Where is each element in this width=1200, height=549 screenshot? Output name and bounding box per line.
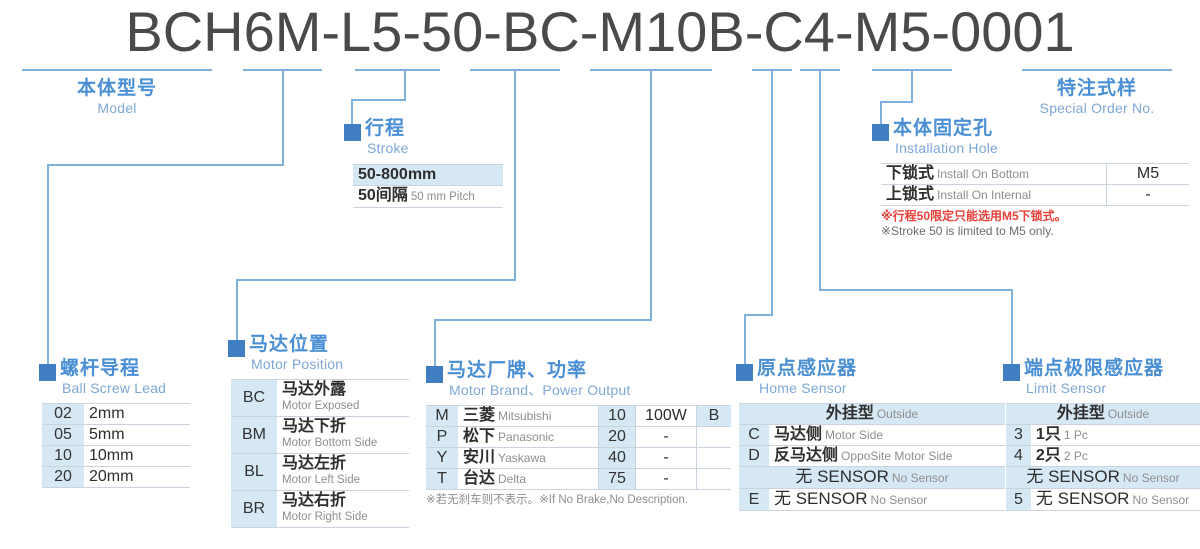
table-row[interactable]: 4 2只2 Pc: [1006, 446, 1200, 467]
table-row[interactable]: E 无 SENSORNo Sensor: [739, 489, 1005, 511]
table-row[interactable]: T 台达Delta 75 -: [426, 469, 731, 490]
install-bottom-value: M5: [1137, 165, 1159, 182]
lead-value: 20mm: [89, 468, 133, 485]
motor-position-en: Motor Left Side: [282, 472, 404, 488]
brake-cell: [697, 469, 732, 490]
home-sensor-cn: 反马达侧: [774, 447, 838, 464]
section-home-sensor-title-cn: 原点感应器: [757, 358, 857, 380]
limit-sensor-group2-en: No Sensor: [1120, 471, 1180, 485]
table-row: 外挂型Outside: [739, 404, 1005, 425]
table-row[interactable]: BM 马达下折 Motor Bottom Side: [231, 417, 409, 454]
motor-position-cn: 马达下折: [282, 419, 404, 435]
lead-value-cell: 10mm: [84, 446, 190, 467]
section-stroke: 行程 Stroke 50-800mm 50间隔50 mm Pitch: [344, 118, 503, 208]
installation-hole-note-en: ※Stroke 50 is limited to M5 only.: [881, 224, 1189, 239]
stroke-pitch-cn: 50间隔: [358, 187, 408, 204]
limit-sensor-group1-cn: 外挂型: [1057, 405, 1105, 422]
motor-position-cn: 马达右折: [282, 493, 404, 509]
product-code-diagram: BCH6M-L5-50-BC-M10B-C4-M5-0001: [0, 0, 1200, 549]
installation-hole-marker-square: [872, 124, 889, 141]
table-row[interactable]: P 松下Panasonic 20 -: [426, 427, 731, 448]
home-sensor-group-nosensor-header: 无 SENSORNo Sensor: [739, 467, 1005, 489]
brake-cell: [697, 427, 732, 448]
install-bottom-value-cell: M5: [1107, 164, 1190, 185]
home-sensor-desc-cell: 马达侧Motor Side: [769, 425, 1005, 446]
home-sensor-cn: 马达侧: [774, 426, 822, 443]
section-limit-sensor-title-en: Limit Sensor: [1024, 380, 1164, 397]
power-value: -: [663, 428, 668, 445]
section-ball-screw-lead-title-cn: 螺杆导程: [60, 358, 166, 380]
code-segment-specialorder: 0001: [950, 0, 1075, 64]
brand-name-cell: 松下Panasonic: [458, 427, 599, 448]
table-row[interactable]: M 三菱Mitsubishi 10 100W B: [426, 406, 731, 427]
limit-sensor-cn: 无 SENSOR: [1036, 489, 1130, 508]
table-row[interactable]: 20 20mm: [42, 467, 190, 488]
section-limit-sensor: 端点极限感应器 Limit Sensor 外挂型Outside 3 1只1 Pc…: [1003, 358, 1200, 511]
section-home-sensor-title-en: Home Sensor: [757, 380, 857, 397]
code-dash-4: -: [580, 0, 599, 64]
section-motor-brand-title-en: Motor Brand、Power Output: [447, 382, 630, 399]
section-model: 本体型号 Model: [22, 78, 212, 117]
limit-sensor-group-outside-header: 外挂型Outside: [1006, 404, 1200, 425]
install-bottom-label-cell: 下锁式Install On Bottom: [881, 164, 1107, 185]
motor-position-key-cell: BR: [231, 491, 277, 528]
limit-sensor-marker-square: [1003, 364, 1020, 381]
motor-position-key-cell: BM: [231, 417, 277, 454]
motor-position-marker-square: [228, 340, 245, 357]
brand-cn: 松下: [463, 428, 495, 445]
installation-hole-note-cn: ※行程50限定只能选用M5下锁式。: [881, 209, 1189, 224]
table-row[interactable]: BL 马达左折 Motor Left Side: [231, 454, 409, 491]
home-sensor-en: Motor Side: [822, 428, 883, 442]
limit-sensor-en: No Sensor: [1129, 493, 1189, 507]
power-value: 100W: [645, 407, 687, 424]
code-dash-2: -: [402, 0, 421, 64]
brand-name-cell: 台达Delta: [458, 469, 599, 490]
motor-position-en: Motor Right Side: [282, 509, 404, 525]
section-limit-sensor-title-cn: 端点极限感应器: [1024, 358, 1164, 380]
limit-sensor-table: 外挂型Outside 3 1只1 Pc 4 2只2 Pc 无 SENSORNo …: [1006, 403, 1200, 511]
home-sensor-en: OppoSite Motor Side: [838, 449, 952, 463]
brand-en: Yaskawa: [495, 451, 546, 465]
table-row[interactable]: D 反马达侧OppoSite Motor Side: [739, 446, 1005, 467]
motor-position-desc-cell: 马达左折 Motor Left Side: [277, 454, 409, 491]
home-sensor-desc-cell: 无 SENSORNo Sensor: [769, 489, 1005, 511]
section-stroke-title-en: Stroke: [365, 140, 409, 157]
brand-key-cell: Y: [426, 448, 458, 469]
table-row: 无 SENSORNo Sensor: [1006, 467, 1200, 489]
install-internal-en: Install On Internal: [934, 188, 1031, 202]
home-sensor-en: No Sensor: [868, 493, 928, 507]
lead-key-cell: 20: [42, 467, 84, 488]
code-segment-hole: M5: [854, 0, 932, 64]
power-value-cell: -: [636, 427, 697, 448]
lead-value: 10mm: [89, 447, 133, 464]
brand-cn: 台达: [463, 470, 495, 487]
motor-position-en: Motor Bottom Side: [282, 435, 404, 451]
home-sensor-group2-en: No Sensor: [889, 471, 949, 485]
power-value: -: [663, 449, 668, 466]
motor-position-cn: 马达外露: [282, 382, 404, 398]
limit-sensor-cn: 2只: [1036, 447, 1061, 464]
table-row: 无 SENSORNo Sensor: [739, 467, 1005, 489]
motor-position-key-cell: BL: [231, 454, 277, 491]
section-stroke-title-cn: 行程: [365, 118, 409, 140]
home-sensor-desc-cell: 反马达侧OppoSite Motor Side: [769, 446, 1005, 467]
install-bottom-en: Install On Bottom: [934, 167, 1029, 181]
stroke-pitch-en: 50 mm Pitch: [408, 191, 475, 203]
limit-sensor-key-cell: 3: [1006, 425, 1031, 446]
table-row[interactable]: BR 马达右折 Motor Right Side: [231, 491, 409, 528]
install-internal-label-cell: 上锁式Install On Internal: [881, 185, 1107, 206]
motor-brand-marker-square: [426, 366, 443, 383]
section-special-order-title-en: Special Order No.: [1022, 100, 1172, 117]
motor-position-table: BC 马达外露 Motor Exposed BM 马达下折 Motor Bott…: [231, 379, 409, 528]
limit-sensor-group1-en: Outside: [1105, 407, 1149, 421]
brand-en: Mitsubishi: [495, 409, 551, 423]
power-value-cell: -: [636, 469, 697, 490]
lead-key-cell: 10: [42, 446, 84, 467]
table-row: 外挂型Outside: [1006, 404, 1200, 425]
code-dash-5: -: [745, 0, 764, 64]
brand-key-cell: M: [426, 406, 458, 427]
home-sensor-cn: 无 SENSOR: [774, 489, 868, 508]
section-motor-brand: 马达厂牌、功率 Motor Brand、Power Output M 三菱Mit…: [426, 360, 731, 507]
motor-brand-table: M 三菱Mitsubishi 10 100W B P 松下Panasonic 2…: [426, 405, 731, 490]
lead-key-cell: 02: [42, 404, 84, 425]
home-sensor-key-cell: C: [739, 425, 769, 446]
code-dash-7: -: [931, 0, 950, 64]
code-dash-1: -: [321, 0, 340, 64]
section-motor-brand-title-cn: 马达厂牌、功率: [447, 360, 630, 382]
section-model-title-en: Model: [22, 100, 212, 117]
limit-sensor-key-cell: 5: [1006, 489, 1031, 511]
power-key-cell: 75: [599, 469, 636, 490]
section-model-title-cn: 本体型号: [22, 78, 212, 100]
code-dash-3: -: [483, 0, 502, 64]
section-motor-position-title-cn: 马达位置: [249, 334, 343, 356]
lead-value-cell: 20mm: [84, 467, 190, 488]
brand-key-cell: P: [426, 427, 458, 448]
section-installation-hole: 本体固定孔 Installation Hole 下锁式Install On Bo…: [872, 118, 1189, 239]
table-row[interactable]: 05 5mm: [42, 425, 190, 446]
table-row[interactable]: 下锁式Install On Bottom M5: [881, 164, 1189, 185]
install-internal-cn: 上锁式: [886, 186, 934, 203]
table-row[interactable]: BC 马达外露 Motor Exposed: [231, 380, 409, 417]
power-key-cell: 10: [599, 406, 636, 427]
install-internal-value-cell: -: [1107, 185, 1190, 206]
lead-value: 5mm: [89, 426, 125, 443]
stroke-range-cell: 50-800mm: [353, 165, 503, 186]
brand-name-cell: 安川Yaskawa: [458, 448, 599, 469]
stroke-marker-square: [344, 124, 361, 141]
table-row[interactable]: 10 10mm: [42, 446, 190, 467]
section-home-sensor: 原点感应器 Home Sensor 外挂型Outside C 马达侧Motor …: [736, 358, 1005, 511]
home-sensor-key-cell: E: [739, 489, 769, 511]
table-row[interactable]: Y 安川Yaskawa 40 -: [426, 448, 731, 469]
code-segment-homesensor: C: [763, 0, 803, 64]
installation-hole-table: 下锁式Install On Bottom M5 上锁式Install On In…: [881, 163, 1189, 206]
install-internal-value: -: [1145, 186, 1150, 203]
install-bottom-cn: 下锁式: [886, 165, 934, 182]
motor-position-desc-cell: 马达下折 Motor Bottom Side: [277, 417, 409, 454]
model-code: BCH6M-L5-50-BC-M10B-C4-M5-0001: [0, 0, 1200, 62]
power-key-cell: 20: [599, 427, 636, 448]
code-dash-6: -: [835, 0, 854, 64]
section-special-order-title-cn: 特注式样: [1022, 78, 1172, 100]
brand-key-cell: T: [426, 469, 458, 490]
code-segment-motorbrand: M10B: [598, 0, 744, 64]
limit-sensor-cn: 1只: [1036, 426, 1061, 443]
code-segment-limitsensor: 4: [804, 0, 835, 64]
limit-sensor-desc-cell: 无 SENSORNo Sensor: [1031, 489, 1200, 511]
home-sensor-marker-square: [736, 364, 753, 381]
limit-sensor-desc-cell: 1只1 Pc: [1031, 425, 1200, 446]
power-value: -: [663, 470, 668, 487]
motor-position-cn: 马达左折: [282, 456, 404, 472]
lead-value-cell: 2mm: [84, 404, 190, 425]
lead-key-cell: 05: [42, 425, 84, 446]
brand-name-cell: 三菱Mitsubishi: [458, 406, 599, 427]
power-key-cell: 40: [599, 448, 636, 469]
home-sensor-group2-cn: 无 SENSOR: [795, 467, 889, 486]
ball-screw-lead-table: 02 2mm 05 5mm 10 10mm 20 20mm: [42, 403, 190, 488]
table-row[interactable]: 5 无 SENSORNo Sensor: [1006, 489, 1200, 511]
stroke-range-value: 50-800mm: [358, 166, 436, 183]
section-installation-hole-title-en: Installation Hole: [893, 140, 998, 157]
brand-cn: 安川: [463, 449, 495, 466]
brand-en: Delta: [495, 472, 526, 486]
table-row[interactable]: 50-800mm: [353, 165, 503, 186]
lead-value-cell: 5mm: [84, 425, 190, 446]
brand-cn: 三菱: [463, 407, 495, 424]
code-segment-lead: L5: [340, 0, 402, 64]
code-segment-stroke: 50: [421, 0, 483, 64]
limit-sensor-key-cell: 4: [1006, 446, 1031, 467]
section-motor-position: 马达位置 Motor Position BC 马达外露 Motor Expose…: [228, 334, 409, 528]
motor-position-key-cell: BC: [231, 380, 277, 417]
power-value-cell: -: [636, 448, 697, 469]
power-value-cell: 100W: [636, 406, 697, 427]
table-row[interactable]: 上锁式Install On Internal -: [881, 185, 1189, 206]
motor-position-desc-cell: 马达右折 Motor Right Side: [277, 491, 409, 528]
stroke-table: 50-800mm 50间隔50 mm Pitch: [353, 164, 503, 208]
motor-brand-note: ※若无刹车则不表示。※If No Brake,No Description.: [426, 493, 731, 507]
lead-value: 2mm: [89, 405, 125, 422]
brake-cell: [697, 448, 732, 469]
home-sensor-group-outside-header: 外挂型Outside: [739, 404, 1005, 425]
motor-position-desc-cell: 马达外露 Motor Exposed: [277, 380, 409, 417]
section-ball-screw-lead-title-en: Ball Screw Lead: [60, 380, 166, 397]
stroke-pitch-cell: 50间隔50 mm Pitch: [353, 186, 503, 208]
section-installation-hole-title-cn: 本体固定孔: [893, 118, 998, 140]
limit-sensor-en: 1 Pc: [1061, 428, 1088, 442]
motor-position-en: Motor Exposed: [282, 398, 404, 414]
section-special-order: 特注式样 Special Order No.: [1022, 78, 1172, 117]
home-sensor-group1-en: Outside: [874, 407, 918, 421]
table-row[interactable]: 02 2mm: [42, 404, 190, 425]
brake-cell: B: [697, 406, 732, 427]
home-sensor-key-cell: D: [739, 446, 769, 467]
home-sensor-group1-cn: 外挂型: [826, 405, 874, 422]
section-motor-position-title-en: Motor Position: [249, 356, 343, 373]
code-segment-model: BCH6M: [125, 0, 321, 64]
table-row[interactable]: C 马达侧Motor Side: [739, 425, 1005, 446]
limit-sensor-desc-cell: 2只2 Pc: [1031, 446, 1200, 467]
table-row[interactable]: 50间隔50 mm Pitch: [353, 186, 503, 208]
limit-sensor-group-nosensor-header: 无 SENSORNo Sensor: [1006, 467, 1200, 489]
table-row[interactable]: 3 1只1 Pc: [1006, 425, 1200, 446]
ball-screw-lead-marker-square: [39, 364, 56, 381]
home-sensor-table: 外挂型Outside C 马达侧Motor Side D 反马达侧OppoSit…: [739, 403, 1005, 511]
section-ball-screw-lead: 螺杆导程 Ball Screw Lead 02 2mm 05 5mm 10 10…: [39, 358, 190, 488]
code-segment-motorpos: BC: [502, 0, 580, 64]
limit-sensor-en: 2 Pc: [1061, 449, 1088, 463]
limit-sensor-group2-cn: 无 SENSOR: [1026, 467, 1120, 486]
brand-en: Panasonic: [495, 430, 554, 444]
